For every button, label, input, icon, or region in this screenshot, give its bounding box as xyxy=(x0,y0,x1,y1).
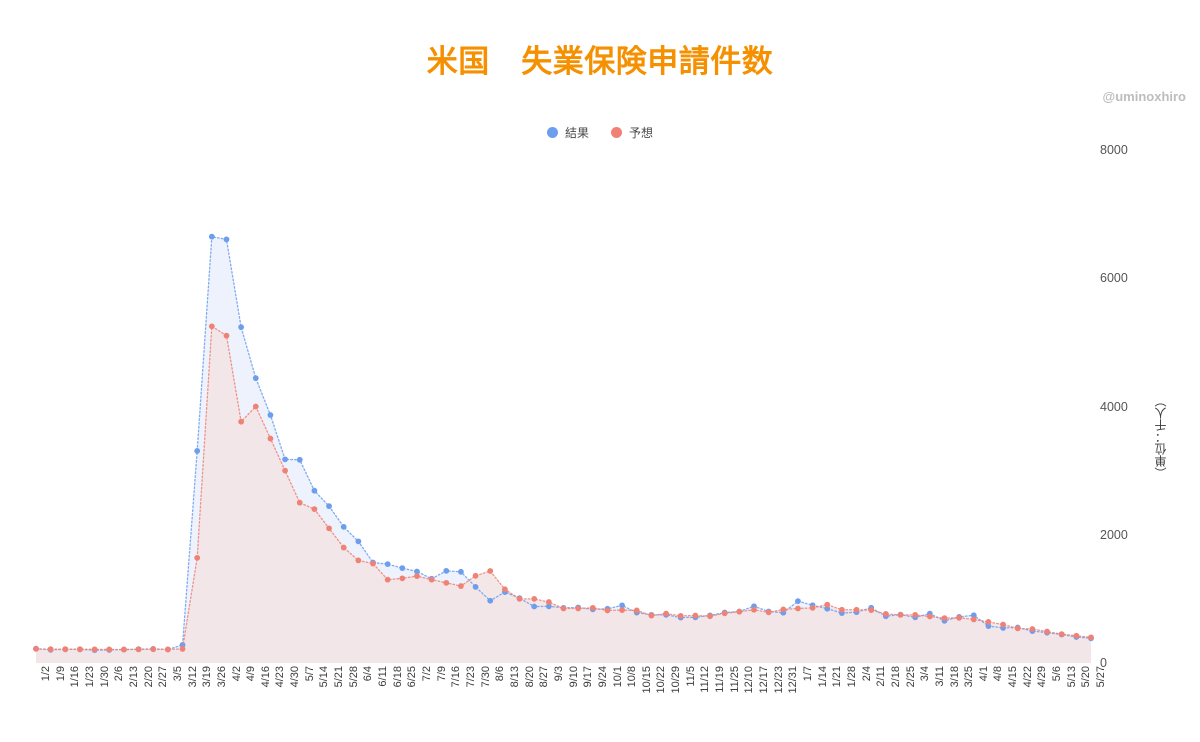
data-point[interactable] xyxy=(458,569,464,575)
x-axis-tick-label: 1/9 xyxy=(55,666,67,681)
x-axis-tick-label: 1/21 xyxy=(831,666,843,687)
data-point[interactable] xyxy=(106,647,112,653)
data-point[interactable] xyxy=(1029,626,1035,632)
data-point[interactable] xyxy=(48,646,54,652)
data-point[interactable] xyxy=(1044,629,1050,635)
x-axis-tick-label: 4/29 xyxy=(1036,666,1048,687)
x-axis-tick-label: 1/16 xyxy=(69,666,81,687)
x-axis-tick-label: 1/7 xyxy=(802,666,814,681)
data-point[interactable] xyxy=(312,506,318,512)
y-axis-tick-label: 4000 xyxy=(1100,400,1128,414)
x-axis-tick-label: 11/19 xyxy=(714,666,726,693)
data-point[interactable] xyxy=(165,647,171,653)
data-point[interactable] xyxy=(473,584,479,590)
x-axis-tick-label: 5/13 xyxy=(1066,666,1078,687)
data-point[interactable] xyxy=(326,525,332,531)
x-axis-tick-label: 3/12 xyxy=(187,666,199,687)
x-axis-tick-label: 4/9 xyxy=(245,666,257,681)
x-axis-tick-label: 4/2 xyxy=(231,666,243,681)
data-point[interactable] xyxy=(326,503,332,509)
x-axis-tick-label: 1/2 xyxy=(40,666,52,681)
data-point[interactable] xyxy=(77,646,83,652)
data-point[interactable] xyxy=(854,607,860,613)
x-axis-tick-label: 2/4 xyxy=(861,666,873,681)
x-axis-tick-label: 7/23 xyxy=(465,666,477,687)
data-point[interactable] xyxy=(253,404,259,410)
x-axis-tick-label: 5/14 xyxy=(318,666,330,687)
y-axis-title: （単位：千人） xyxy=(1152,395,1169,479)
data-point[interactable] xyxy=(795,606,801,612)
data-point[interactable] xyxy=(224,236,230,242)
data-point[interactable] xyxy=(1059,631,1065,637)
data-point[interactable] xyxy=(341,524,347,530)
chart-canvas xyxy=(30,150,1095,663)
circle-marker-icon xyxy=(611,127,622,138)
data-point[interactable] xyxy=(722,610,728,616)
x-axis-tick-label: 1/14 xyxy=(817,666,829,687)
data-point[interactable] xyxy=(312,488,318,494)
data-point[interactable] xyxy=(839,607,845,613)
x-axis-tick-label: 8/6 xyxy=(494,666,506,681)
data-point[interactable] xyxy=(385,577,391,583)
x-axis-tick-label: 9/17 xyxy=(582,666,594,687)
data-point[interactable] xyxy=(736,609,742,615)
x-axis-tick-label: 10/29 xyxy=(670,666,682,694)
data-point[interactable] xyxy=(575,606,581,612)
x-axis-tick-label: 11/5 xyxy=(685,666,697,687)
data-point[interactable] xyxy=(663,611,669,617)
x-axis-tick-label: 12/10 xyxy=(743,666,755,694)
data-point[interactable] xyxy=(136,647,142,653)
data-point[interactable] xyxy=(868,607,874,613)
x-axis-tick-label: 3/11 xyxy=(934,666,946,687)
plot-area xyxy=(30,150,1095,663)
data-point[interactable] xyxy=(297,457,303,463)
x-axis: 1/21/91/161/231/302/62/132/202/273/53/12… xyxy=(30,666,1095,738)
data-point[interactable] xyxy=(238,324,244,330)
data-point[interactable] xyxy=(692,613,698,619)
x-axis-tick-label: 2/6 xyxy=(113,666,125,681)
x-axis-tick-label: 3/18 xyxy=(949,666,961,687)
data-point[interactable] xyxy=(942,615,948,621)
legend-item-yosou[interactable]: 予想 xyxy=(611,124,653,141)
x-axis-tick-label: 4/23 xyxy=(274,666,286,687)
x-axis-tick-label: 8/27 xyxy=(538,666,550,687)
legend-item-label: 結果 xyxy=(565,124,589,141)
x-axis-tick-label: 5/20 xyxy=(1080,666,1092,687)
data-point[interactable] xyxy=(268,436,274,442)
x-axis-tick-label: 3/19 xyxy=(201,666,213,687)
data-point[interactable] xyxy=(1088,634,1094,640)
x-axis-tick-label: 4/15 xyxy=(1007,666,1019,687)
x-axis-tick-label: 2/25 xyxy=(905,666,917,687)
x-axis-tick-label: 7/2 xyxy=(421,666,433,681)
data-point[interactable] xyxy=(341,545,347,551)
data-point[interactable] xyxy=(355,538,361,544)
circle-marker-icon xyxy=(547,127,558,138)
watermark-handle: @uminoxhiro xyxy=(1103,89,1186,104)
data-point[interactable] xyxy=(707,613,713,619)
x-axis-tick-label: 5/21 xyxy=(333,666,345,687)
data-point[interactable] xyxy=(443,580,449,586)
x-axis-tick-label: 4/22 xyxy=(1022,666,1034,687)
x-axis-tick-label: 9/24 xyxy=(597,666,609,687)
data-point[interactable] xyxy=(487,598,493,604)
data-point[interactable] xyxy=(282,468,288,474)
chart-legend: 結果 予想 xyxy=(0,124,1200,141)
data-point[interactable] xyxy=(487,568,493,574)
data-point[interactable] xyxy=(253,375,259,381)
x-axis-tick-label: 6/25 xyxy=(406,666,418,687)
x-axis-tick-label: 7/30 xyxy=(480,666,492,687)
x-axis-tick-label: 2/13 xyxy=(128,666,140,687)
data-point[interactable] xyxy=(502,586,508,592)
x-axis-tick-label: 3/4 xyxy=(919,666,931,681)
legend-item-label: 予想 xyxy=(629,124,653,141)
data-point[interactable] xyxy=(458,583,464,589)
data-point[interactable] xyxy=(546,599,552,605)
y-axis-tick-label: 6000 xyxy=(1100,271,1128,285)
data-point[interactable] xyxy=(194,555,200,561)
data-point[interactable] xyxy=(194,448,200,454)
data-point[interactable] xyxy=(517,596,523,602)
x-axis-tick-label: 11/12 xyxy=(699,666,711,693)
data-point[interactable] xyxy=(678,613,684,619)
data-point[interactable] xyxy=(282,456,288,462)
x-axis-tick-label: 9/3 xyxy=(553,666,565,681)
data-point[interactable] xyxy=(297,500,303,506)
y-axis-tick-label: 2000 xyxy=(1100,528,1128,542)
x-axis-tick-label: 5/28 xyxy=(348,666,360,687)
data-point[interactable] xyxy=(33,646,39,652)
data-point[interactable] xyxy=(531,604,537,610)
x-axis-tick-label: 7/9 xyxy=(436,666,448,681)
x-axis-tick-label: 1/30 xyxy=(99,666,111,687)
x-axis-tick-label: 6/18 xyxy=(392,666,404,687)
x-axis-tick-label: 3/5 xyxy=(172,666,184,681)
y-axis: 02000400060008000 xyxy=(1100,150,1148,663)
page-title: 米国 失業保険申請件数 xyxy=(0,36,1200,81)
data-point[interactable] xyxy=(605,608,611,614)
x-axis-tick-label: 11/25 xyxy=(729,666,741,693)
data-point[interactable] xyxy=(1000,622,1006,628)
chart-page: 米国 失業保険申請件数 @uminoxhiro 結果 予想 0200040006… xyxy=(0,0,1200,742)
data-point[interactable] xyxy=(209,234,215,240)
x-axis-tick-label: 5/7 xyxy=(304,666,316,681)
x-axis-tick-label: 10/8 xyxy=(626,666,638,687)
data-point[interactable] xyxy=(268,412,274,418)
x-axis-tick-label: 12/31 xyxy=(787,666,799,694)
x-axis-tick-label: 8/20 xyxy=(524,666,536,687)
x-axis-tick-label: 5/27 xyxy=(1095,666,1107,687)
x-axis-tick-label: 2/18 xyxy=(890,666,902,687)
x-axis-tick-label: 3/25 xyxy=(963,666,975,687)
x-axis-tick-label: 8/13 xyxy=(509,666,521,687)
data-point[interactable] xyxy=(414,573,420,579)
data-point[interactable] xyxy=(649,613,655,619)
x-axis-tick-label: 4/16 xyxy=(260,666,272,687)
x-axis-tick-label: 4/8 xyxy=(992,666,1004,681)
x-axis-tick-label: 9/10 xyxy=(568,666,580,687)
data-point[interactable] xyxy=(986,619,992,625)
x-axis-tick-label: 3/26 xyxy=(216,666,228,687)
x-axis-tick-label: 4/1 xyxy=(978,666,990,681)
x-axis-tick-label: 12/17 xyxy=(758,666,770,694)
data-point[interactable] xyxy=(912,612,918,618)
data-point[interactable] xyxy=(1015,625,1021,631)
data-point[interactable] xyxy=(92,646,98,652)
data-point[interactable] xyxy=(121,647,127,653)
data-point[interactable] xyxy=(619,607,625,613)
data-point[interactable] xyxy=(1073,633,1079,639)
data-point[interactable] xyxy=(180,646,186,652)
data-point[interactable] xyxy=(883,611,889,617)
data-point[interactable] xyxy=(531,596,537,602)
x-axis-tick-label: 2/27 xyxy=(157,666,169,687)
x-axis-tick-label: 1/28 xyxy=(846,666,858,687)
data-point[interactable] xyxy=(62,646,68,652)
data-point[interactable] xyxy=(399,575,405,581)
data-point[interactable] xyxy=(956,615,962,621)
data-point[interactable] xyxy=(751,607,757,613)
x-axis-tick-label: 6/4 xyxy=(362,666,374,681)
data-point[interactable] xyxy=(209,323,215,329)
data-point[interactable] xyxy=(766,609,772,615)
x-axis-tick-label: 5/6 xyxy=(1051,666,1063,681)
x-axis-tick-label: 10/22 xyxy=(655,666,667,694)
data-point[interactable] xyxy=(429,577,435,583)
data-point[interactable] xyxy=(780,607,786,613)
data-point[interactable] xyxy=(355,558,361,564)
data-point[interactable] xyxy=(561,606,567,612)
data-point[interactable] xyxy=(590,605,596,611)
x-axis-tick-label: 10/15 xyxy=(641,666,653,694)
y-axis-tick-label: 8000 xyxy=(1100,143,1128,157)
x-axis-tick-label: 10/1 xyxy=(612,666,624,687)
data-point[interactable] xyxy=(473,573,479,579)
data-point[interactable] xyxy=(443,568,449,574)
x-axis-tick-label: 4/30 xyxy=(289,666,301,687)
x-axis-tick-label: 2/20 xyxy=(143,666,155,687)
data-point[interactable] xyxy=(634,608,640,614)
data-point[interactable] xyxy=(399,565,405,571)
x-axis-tick-label: 1/23 xyxy=(84,666,96,687)
data-point[interactable] xyxy=(898,612,904,618)
data-point[interactable] xyxy=(810,605,816,611)
x-axis-tick-label: 7/16 xyxy=(450,666,462,687)
data-point[interactable] xyxy=(385,561,391,567)
data-point[interactable] xyxy=(927,614,933,620)
legend-item-kekka[interactable]: 結果 xyxy=(547,124,589,141)
x-axis-tick-label: 12/23 xyxy=(773,666,785,694)
data-point[interactable] xyxy=(150,646,156,652)
x-axis-tick-label: 2/11 xyxy=(875,666,887,687)
data-point[interactable] xyxy=(238,419,244,425)
data-point[interactable] xyxy=(224,333,230,339)
data-point[interactable] xyxy=(971,616,977,622)
x-axis-tick-label: 6/11 xyxy=(377,666,389,687)
data-point[interactable] xyxy=(824,602,830,608)
data-point[interactable] xyxy=(370,561,376,567)
data-point[interactable] xyxy=(795,598,801,604)
